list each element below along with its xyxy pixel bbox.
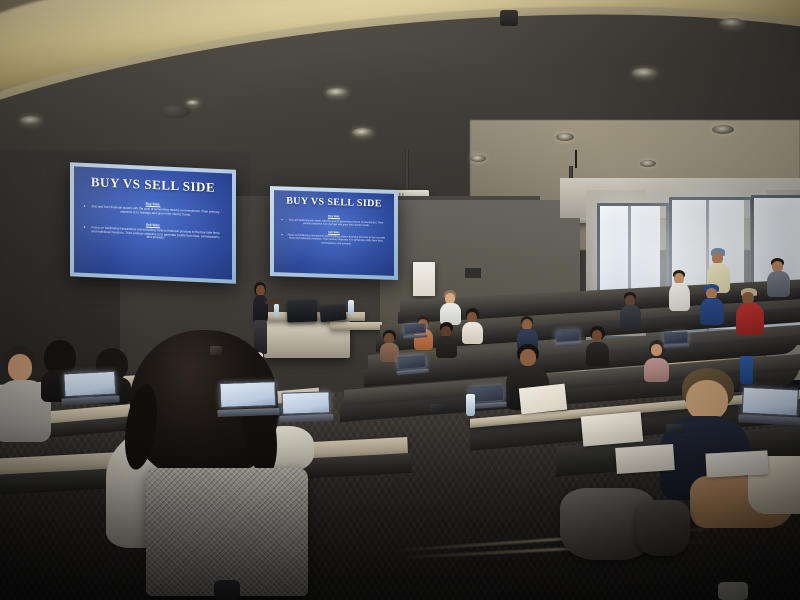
water-bottle[interactable] — [348, 300, 354, 315]
laptop[interactable] — [741, 387, 799, 426]
laptop[interactable] — [281, 391, 330, 423]
laptop[interactable] — [555, 329, 580, 347]
projector-mount-pole — [405, 150, 409, 192]
phone[interactable] — [430, 404, 446, 412]
downlight-icon — [640, 160, 656, 167]
chair-leg — [214, 580, 240, 600]
student-far-right-window — [766, 258, 792, 298]
wall-monitor — [465, 268, 481, 278]
student-head — [686, 380, 728, 420]
downlight-icon — [720, 18, 744, 28]
laptop-screen — [742, 387, 799, 417]
student-red-shirt — [736, 288, 766, 336]
slide-title: BUY VS SELL SIDE — [286, 195, 382, 209]
bullet-dot-icon: ● — [281, 218, 283, 221]
laptop-screen — [555, 329, 580, 342]
student-torso — [736, 303, 764, 335]
laptop-screen — [404, 323, 427, 335]
slide-bullet-text: Focus on facilitating transactions and p… — [286, 234, 387, 247]
bullet-dot-icon: ● — [83, 205, 85, 208]
student-torso — [620, 305, 641, 329]
student-mid-white — [440, 290, 462, 326]
student-mid-dark — [436, 322, 458, 358]
laptop-screen — [664, 331, 689, 344]
downlight-icon — [712, 125, 734, 134]
ceiling-speaker-icon — [500, 10, 518, 26]
student-torso — [669, 283, 690, 311]
chair-mesh-back[interactable] — [146, 468, 308, 596]
podium-monitor-secondary — [319, 304, 347, 323]
front-counter-right — [330, 322, 382, 330]
ceiling-speaker-icon — [160, 105, 190, 118]
handout-papers[interactable] — [615, 444, 675, 474]
ceiling-cable — [575, 150, 577, 168]
downlight-icon — [556, 133, 574, 141]
student-head — [651, 344, 662, 356]
student-sock-icon — [718, 582, 748, 600]
phone[interactable] — [666, 424, 684, 433]
slide-bullet-buyside: ● Buy and hold financial assets with the… — [281, 218, 387, 228]
hair-clip-icon — [210, 346, 222, 355]
downlight-icon — [326, 88, 348, 97]
student-torso — [436, 336, 457, 358]
water-bottle — [274, 304, 279, 318]
student-torso — [586, 342, 609, 366]
student-head — [520, 349, 536, 366]
student-white-shirt — [668, 270, 692, 312]
laptop-screen — [281, 391, 330, 415]
student-head — [592, 330, 602, 341]
notebook[interactable] — [581, 411, 643, 446]
student-torso — [380, 343, 399, 362]
water-bottle-blue[interactable] — [740, 356, 753, 384]
laptop[interactable] — [404, 323, 427, 339]
downlight-icon — [632, 68, 657, 78]
student-torso — [462, 322, 483, 344]
presenter-torso — [253, 295, 268, 322]
student-torso — [700, 298, 724, 325]
slide-right: BUY VS SELL SIDE Buy Side: ● Buy and hol… — [274, 190, 394, 276]
laptop-screen — [63, 371, 116, 397]
laptop[interactable] — [397, 355, 426, 375]
downlight-icon — [186, 100, 200, 106]
screen-border: BUY VS SELL SIDE Buy Side: ● Buy and hol… — [270, 186, 398, 280]
student-blue-cap — [700, 284, 726, 326]
slide-left: BUY VS SELL SIDE Buy Side: ● Buy and hol… — [74, 166, 232, 279]
water-bottle[interactable] — [466, 394, 475, 416]
student-torso — [767, 271, 790, 297]
podium-monitor — [287, 299, 318, 322]
handout-papers[interactable] — [519, 384, 567, 415]
bullet-dot-icon: ● — [83, 226, 85, 229]
student-head — [8, 354, 32, 381]
handout-papers[interactable] — [705, 450, 768, 477]
downlight-icon — [470, 155, 486, 162]
slide-title: BUY VS SELL SIDE — [91, 174, 215, 196]
student-mid-right-dark — [586, 326, 610, 366]
slide-body: Buy Side: ● Buy and hold financial asset… — [74, 198, 232, 243]
downlight-icon — [352, 128, 373, 137]
laptop[interactable] — [664, 331, 689, 348]
laptop[interactable] — [219, 381, 276, 417]
student-mid-cream — [462, 308, 484, 344]
student-hair — [44, 340, 76, 374]
bullet-dot-icon: ● — [281, 234, 283, 237]
laptop[interactable] — [63, 371, 117, 406]
laptop-screen — [219, 381, 276, 408]
right-projection-screen: BUY VS SELL SIDE Buy Side: ● Buy and hol… — [270, 186, 398, 280]
slide-body: Buy Side: ● Buy and hold financial asset… — [274, 213, 394, 246]
slide-bullet-sellside: ● Focus on facilitating transactions and… — [281, 234, 387, 247]
downlight-icon — [20, 116, 42, 125]
backpack-secondary — [636, 500, 690, 556]
flipchart-easel — [413, 262, 435, 296]
screen-border: BUY VS SELL SIDE Buy Side: ● Buy and hol… — [70, 162, 236, 284]
slide-bullet-text: Buy and hold financial assets with the g… — [286, 218, 387, 227]
student-gray-right — [620, 292, 642, 330]
left-projection-screen: BUY VS SELL SIDE Buy Side: ● Buy and hol… — [70, 162, 236, 284]
lecture-hall-photo: BUY VS SELL SIDE Buy Side: ● Buy and hol… — [0, 0, 800, 600]
